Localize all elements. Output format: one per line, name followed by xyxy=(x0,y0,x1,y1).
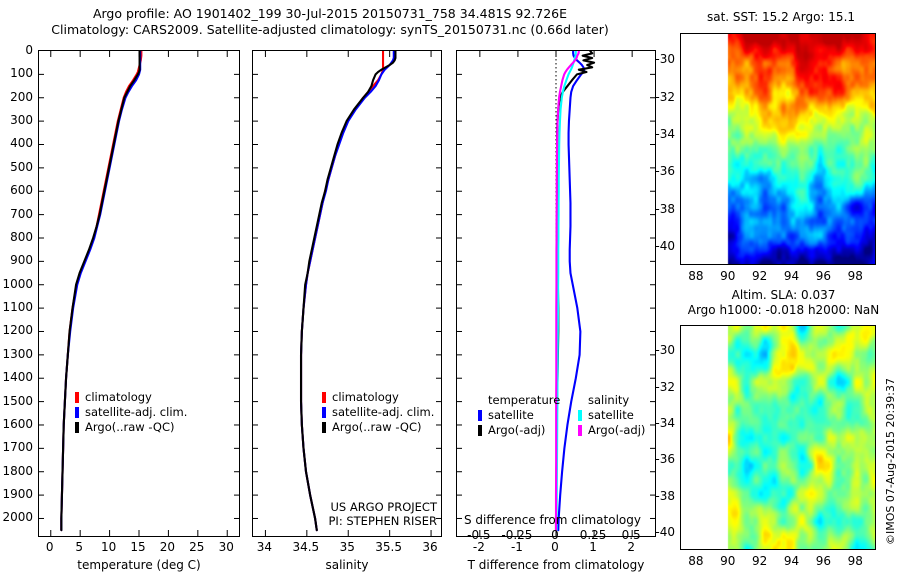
difference-line-1 xyxy=(556,51,594,530)
profile-line-0 xyxy=(301,51,383,530)
depth-tick-1100: 1100 xyxy=(0,300,33,314)
map-lat-tick--32: -32 xyxy=(642,90,675,104)
depth-tick-0: 0 xyxy=(0,43,33,57)
depth-tick-1000: 1000 xyxy=(0,277,33,291)
map-lat-tick--36: -36 xyxy=(642,452,675,466)
t-difference-tick--2: -2 xyxy=(473,540,485,554)
temperature-profile-plot xyxy=(39,51,239,536)
map-lon-tick-90: 90 xyxy=(720,554,735,568)
legend-label: satellite-adj. clim. xyxy=(332,405,434,420)
depth-tick-500: 500 xyxy=(0,160,33,174)
legend-color-swatch xyxy=(75,422,79,433)
temperature-tick-15: 15 xyxy=(130,540,145,554)
legend-color-swatch xyxy=(578,410,582,421)
legend-label: Argo(..raw -QC) xyxy=(85,420,175,435)
depth-tick-600: 600 xyxy=(0,183,33,197)
map-lat-tick--34: -34 xyxy=(642,127,675,141)
temperature-axis-label: temperature (deg C) xyxy=(38,558,240,572)
salinity-tick-35.5: 35.5 xyxy=(375,540,402,554)
salinity-legend-item: Argo(..raw -QC) xyxy=(322,420,434,435)
legend-label: climatology xyxy=(332,390,399,405)
sla-map-title: Altim. SLA: 0.037 Argo h1000: -0.018 h20… xyxy=(676,288,891,318)
temperature-tick-5: 5 xyxy=(75,540,83,554)
map-lon-tick-98: 98 xyxy=(848,269,863,283)
project-pi: PI: STEPHEN RISER xyxy=(262,514,437,528)
map-lat-tick--34: -34 xyxy=(642,416,675,430)
depth-tick-400: 400 xyxy=(0,136,33,150)
map-lon-tick-88: 88 xyxy=(688,269,703,283)
depth-tick-1300: 1300 xyxy=(0,347,33,361)
sst-map-field xyxy=(681,34,875,264)
map-lat-tick--32: -32 xyxy=(642,380,675,394)
legend-label: Argo(-adj) xyxy=(588,423,645,438)
legend-label: Argo(..raw -QC) xyxy=(332,420,422,435)
difference-legend-temperature-title: temperature xyxy=(478,393,560,408)
profile-line-0 xyxy=(61,51,141,530)
difference-legend-salinity: salinitysatelliteArgo(-adj) xyxy=(578,393,645,438)
salinity-legend-item: satellite-adj. clim. xyxy=(322,405,434,420)
map-lon-tick-92: 92 xyxy=(752,554,767,568)
legend-color-swatch xyxy=(478,410,482,421)
s-difference-tick--0.5: -0.5 xyxy=(467,528,490,542)
salinity-legend-item: climatology xyxy=(322,390,434,405)
s-difference-tick-0.25: 0.25 xyxy=(580,528,607,542)
depth-tick-700: 700 xyxy=(0,207,33,221)
difference-legend-temperature-item: satellite xyxy=(478,408,560,423)
salinity-legend: climatologysatellite-adj. clim.Argo(..ra… xyxy=(322,390,434,435)
sla-map-panel[interactable] xyxy=(680,325,876,550)
difference-legend-temperature-item: Argo(-adj) xyxy=(478,423,560,438)
depth-tick-1500: 1500 xyxy=(0,394,33,408)
title-line-2: Climatology: CARS2009. Satellite-adjuste… xyxy=(0,22,660,38)
salinity-tick-35: 35 xyxy=(340,540,355,554)
salinity-profile-panel[interactable] xyxy=(252,50,442,537)
map-lon-tick-90: 90 xyxy=(720,269,735,283)
salinity-difference-axis-label: S difference from climatology xyxy=(464,513,641,527)
depth-tick-200: 200 xyxy=(0,90,33,104)
map-lat-tick--30: -30 xyxy=(642,343,675,357)
temperature-legend-item: climatology xyxy=(75,390,187,405)
legend-label: Argo(-adj) xyxy=(488,423,545,438)
depth-tick-2000: 2000 xyxy=(0,510,33,524)
s-difference-tick--0.25: -0.25 xyxy=(501,528,532,542)
map-lon-tick-96: 96 xyxy=(816,554,831,568)
map-lat-tick--40: -40 xyxy=(642,239,675,253)
map-lon-tick-88: 88 xyxy=(688,554,703,568)
title-line-1: Argo profile: AO 1901402_199 30-Jul-2015… xyxy=(0,6,660,22)
map-lon-tick-96: 96 xyxy=(816,269,831,283)
depth-tick-1900: 1900 xyxy=(0,487,33,501)
salinity-axis-label: salinity xyxy=(252,558,442,572)
legend-color-swatch xyxy=(478,425,482,436)
depth-tick-1700: 1700 xyxy=(0,440,33,454)
t-difference-tick-2: 2 xyxy=(627,540,635,554)
temperature-tick-10: 10 xyxy=(101,540,116,554)
profile-line-2 xyxy=(61,51,139,530)
legend-label: satellite-adj. clim. xyxy=(85,405,187,420)
temperature-legend-item: satellite-adj. clim. xyxy=(75,405,187,420)
difference-legend-temperature: temperaturesatelliteArgo(-adj) xyxy=(478,393,560,438)
map-lon-tick-94: 94 xyxy=(784,269,799,283)
t-difference-tick-0: 0 xyxy=(551,540,559,554)
map-lat-tick--30: -30 xyxy=(642,52,675,66)
difference-legend-salinity-item: satellite xyxy=(578,408,645,423)
profile-line-1 xyxy=(301,51,394,530)
depth-tick-1800: 1800 xyxy=(0,464,33,478)
depth-tick-1600: 1600 xyxy=(0,417,33,431)
salinity-tick-34.5: 34.5 xyxy=(292,540,319,554)
map-lon-tick-92: 92 xyxy=(752,269,767,283)
map-lat-tick--38: -38 xyxy=(642,489,675,503)
map-lat-tick--38: -38 xyxy=(642,202,675,216)
map-lat-tick--40: -40 xyxy=(642,525,675,539)
profile-line-1 xyxy=(61,51,140,530)
depth-tick-900: 900 xyxy=(0,253,33,267)
copyright-label: ©IMOS 07-Aug-2015 20:39:37 xyxy=(884,378,897,545)
t-difference-tick-1: 1 xyxy=(589,540,597,554)
sst-map-title: sat. SST: 15.2 Argo: 15.1 xyxy=(676,10,886,25)
page-title: Argo profile: AO 1901402_199 30-Jul-2015… xyxy=(0,6,660,38)
depth-tick-1400: 1400 xyxy=(0,370,33,384)
difference-profile-panel[interactable] xyxy=(456,50,656,537)
map-lon-tick-98: 98 xyxy=(848,554,863,568)
project-credit: US ARGO PROJECT PI: STEPHEN RISER xyxy=(262,500,437,528)
map-lat-tick--36: -36 xyxy=(642,164,675,178)
s-difference-tick-0.5: 0.5 xyxy=(622,528,641,542)
legend-color-swatch xyxy=(322,407,326,418)
legend-color-swatch xyxy=(322,392,326,403)
temperature-tick-20: 20 xyxy=(160,540,175,554)
map-lon-tick-94: 94 xyxy=(784,554,799,568)
legend-label: satellite xyxy=(588,408,634,423)
depth-tick-100: 100 xyxy=(0,66,33,80)
temperature-legend: climatologysatellite-adj. clim.Argo(..ra… xyxy=(75,390,187,435)
legend-color-swatch xyxy=(578,425,582,436)
temperature-tick-30: 30 xyxy=(219,540,234,554)
temperature-profile-panel[interactable] xyxy=(38,50,240,537)
sla-value: Altim. SLA: 0.037 xyxy=(676,288,891,303)
s-difference-tick-0: 0 xyxy=(551,528,559,542)
difference-legend-salinity-title: salinity xyxy=(578,393,645,408)
legend-color-swatch xyxy=(322,422,326,433)
temperature-legend-item: Argo(..raw -QC) xyxy=(75,420,187,435)
project-name: US ARGO PROJECT xyxy=(262,500,437,514)
difference-profile-plot xyxy=(457,51,655,536)
temperature-difference-axis-label: T difference from climatology xyxy=(456,558,656,572)
depth-tick-800: 800 xyxy=(0,230,33,244)
t-difference-tick--1: -1 xyxy=(511,540,523,554)
argo-heights: Argo h1000: -0.018 h2000: NaN xyxy=(676,303,891,318)
legend-label: climatology xyxy=(85,390,152,405)
depth-tick-1200: 1200 xyxy=(0,323,33,337)
legend-color-swatch xyxy=(75,407,79,418)
difference-line-0 xyxy=(558,51,584,530)
salinity-tick-36: 36 xyxy=(422,540,437,554)
salinity-profile-plot xyxy=(253,51,441,536)
legend-label: satellite xyxy=(488,408,534,423)
temperature-tick-0: 0 xyxy=(46,540,54,554)
temperature-tick-25: 25 xyxy=(189,540,204,554)
sla-map-field xyxy=(681,326,875,549)
salinity-tick-34: 34 xyxy=(257,540,272,554)
sst-map-panel[interactable] xyxy=(680,33,876,265)
depth-tick-300: 300 xyxy=(0,113,33,127)
legend-color-swatch xyxy=(75,392,79,403)
difference-legend-salinity-item: Argo(-adj) xyxy=(578,423,645,438)
